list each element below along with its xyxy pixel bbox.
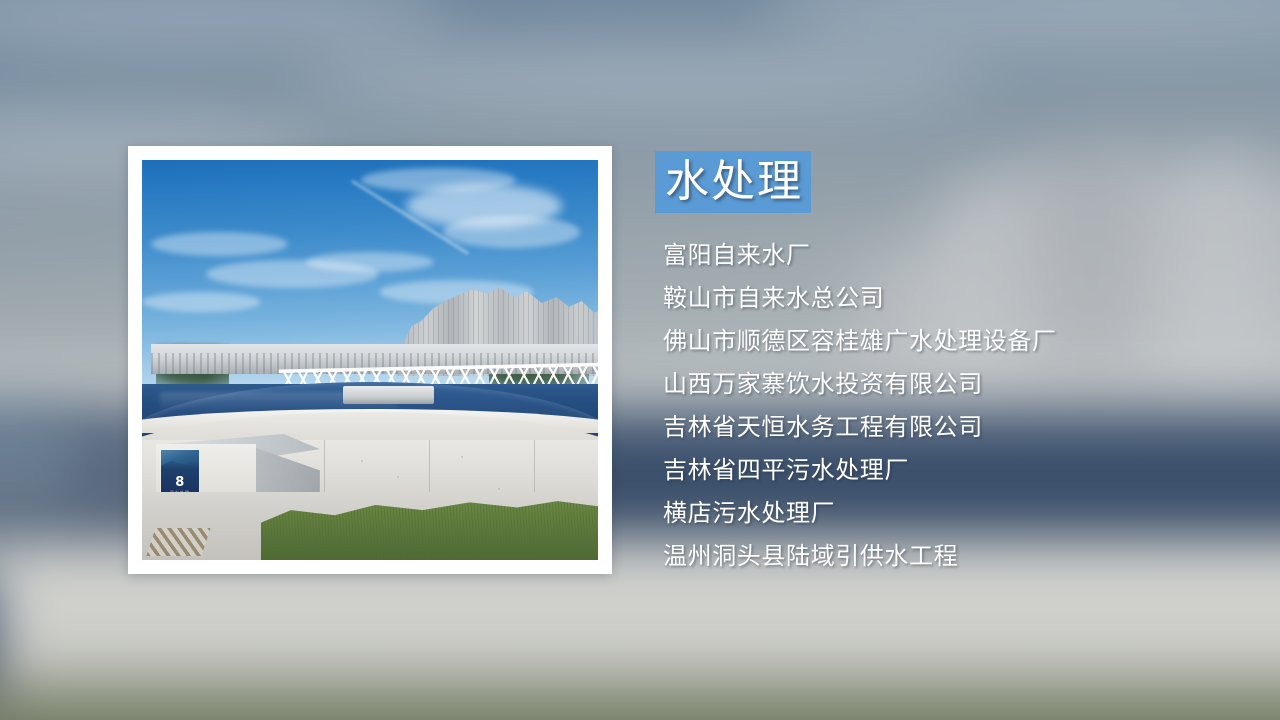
photo-cloud: [306, 252, 434, 272]
photo-wall-speck: [498, 488, 500, 490]
client-list: 富阳自来水厂 鞍山市自来水总公司 佛山市顺德区容桂雄广水处理设备厂 山西万家寨饮…: [663, 234, 1243, 578]
photo-sign-number: 8: [175, 476, 184, 489]
list-item: 横店污水处理厂: [663, 492, 1243, 535]
list-item: 鞍山市自来水总公司: [663, 277, 1243, 320]
list-item: 山西万家寨饮水投资有限公司: [663, 363, 1243, 406]
photo-basin-walkway: [343, 386, 434, 404]
slide-root: 8 污水处理 水处理 富阳自来水厂 鞍山市自来水总公司 佛山市顺德区容桂雄广水处…: [0, 0, 1280, 720]
page-title: 水处理: [665, 160, 803, 204]
page-title-box: 水处理: [655, 151, 811, 213]
photo-cloud: [151, 232, 288, 256]
photo-wall-speck: [361, 460, 363, 462]
list-item: 吉林省天恒水务工程有限公司: [663, 406, 1243, 449]
photo-cloud: [443, 216, 580, 248]
photo-card: 8 污水处理: [128, 146, 612, 574]
photo-sign-wave-graphic: [161, 450, 198, 468]
list-item: 佛山市顺德区容桂雄广水处理设备厂: [663, 320, 1243, 363]
content-column: 水处理 富阳自来水厂 鞍山市自来水总公司 佛山市顺德区容桂雄广水处理设备厂 山西…: [655, 0, 1255, 720]
photo-image: 8 污水处理: [142, 160, 598, 560]
list-item: 富阳自来水厂: [663, 234, 1243, 277]
photo-cloud: [142, 292, 261, 312]
photo-drain-grate: [147, 528, 211, 556]
list-item: 吉林省四平污水处理厂: [663, 449, 1243, 492]
list-item: 温州洞头县陆域引供水工程: [663, 535, 1243, 578]
